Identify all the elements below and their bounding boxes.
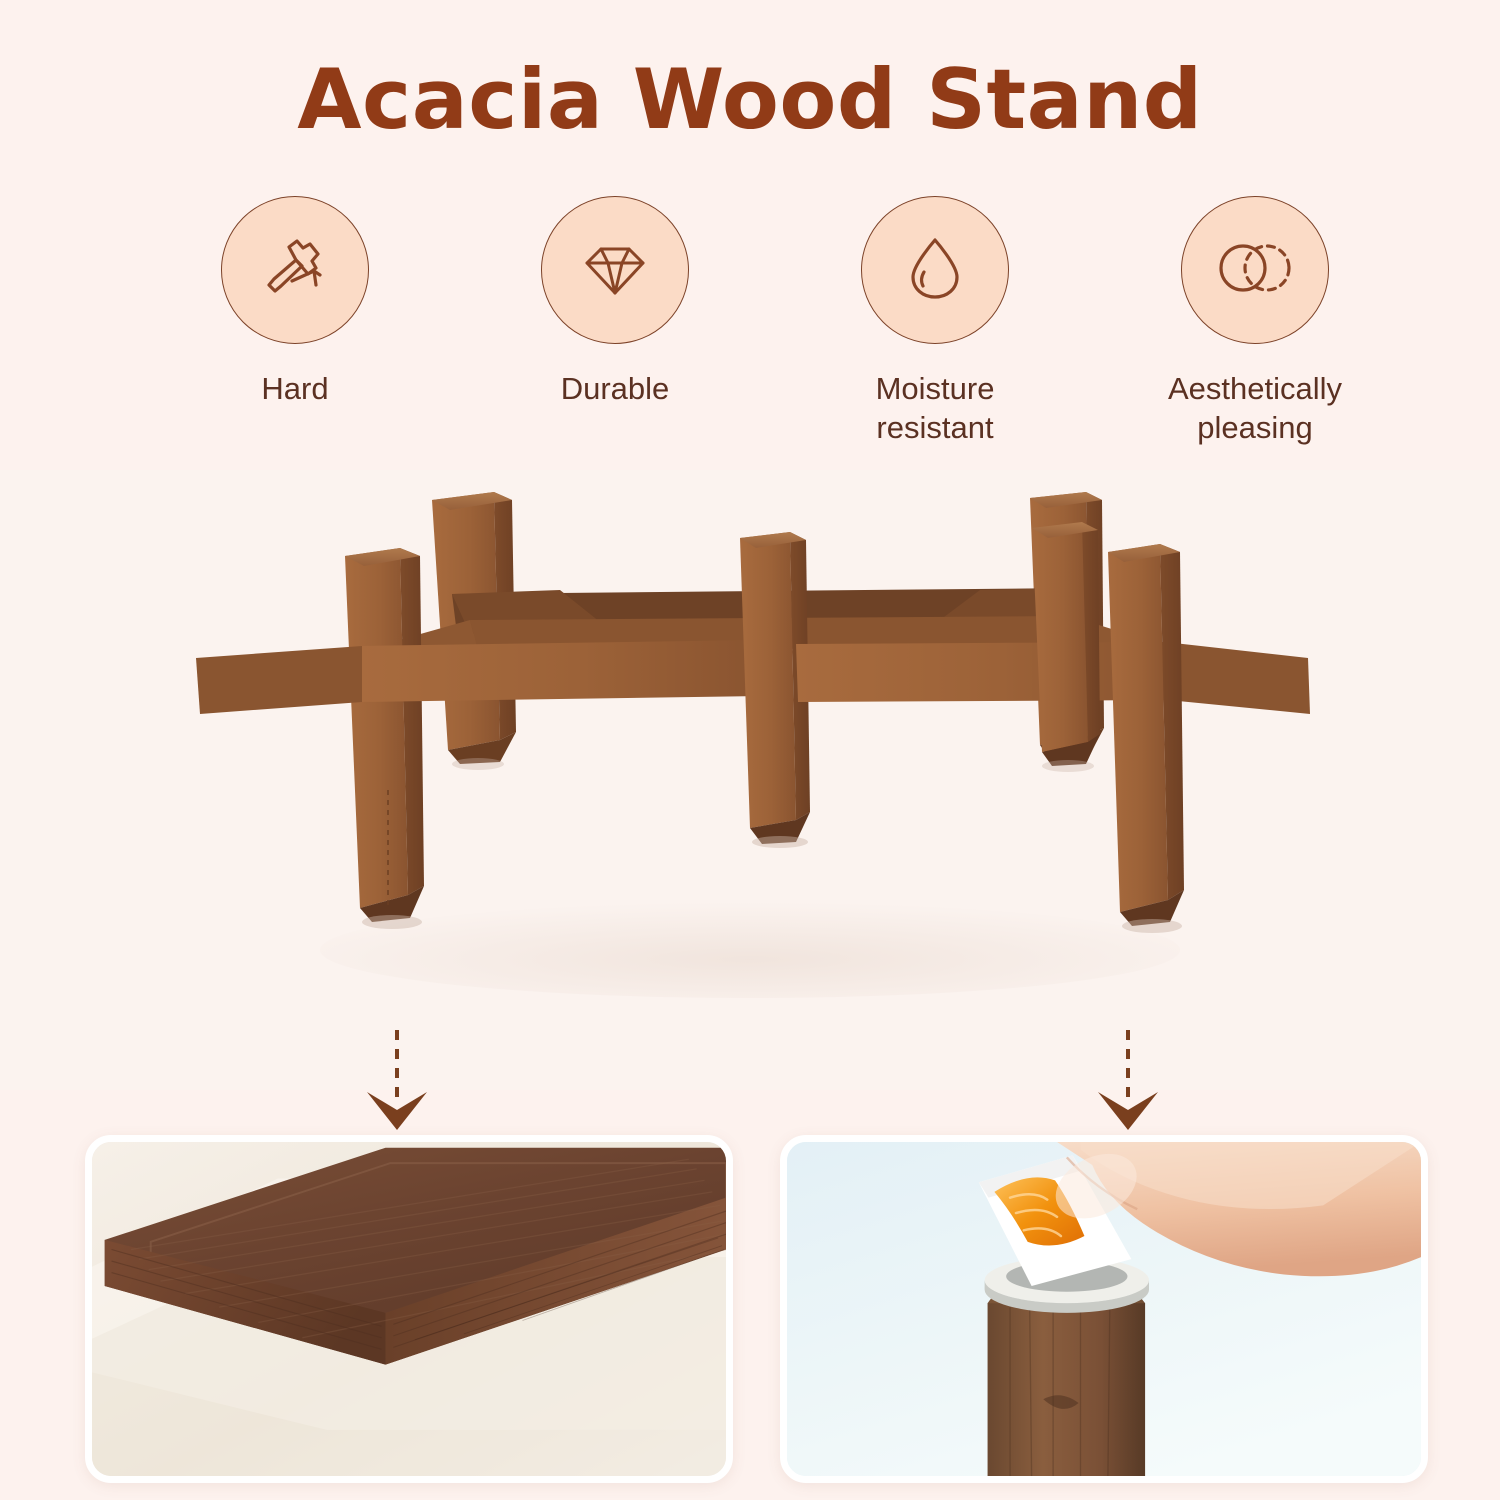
felt-pad-detail-card xyxy=(780,1135,1428,1483)
title-row: Acacia Wood Stand xyxy=(0,56,1500,143)
wood-leg xyxy=(988,1286,1146,1476)
page-title: Acacia Wood Stand xyxy=(297,56,1202,143)
badge-moisture-resistant xyxy=(861,196,1009,344)
feature-label-aesthetically-pleasing: Aesthetically pleasing xyxy=(1168,370,1342,448)
diamond-icon xyxy=(578,231,652,310)
feature-hard: Hard xyxy=(175,196,415,409)
wood-plank-detail-card xyxy=(85,1135,733,1483)
feature-moisture-resistant: Moisture resistant xyxy=(815,196,1055,448)
badge-hard xyxy=(221,196,369,344)
feature-list: Hard Durable Moisture resist xyxy=(175,196,1375,448)
feature-aesthetically-pleasing: Aesthetically pleasing xyxy=(1135,196,1375,448)
feature-label-hard: Hard xyxy=(261,370,328,409)
feature-label-durable: Durable xyxy=(561,370,670,409)
leg-right-inner xyxy=(1032,522,1100,766)
feature-durable: Durable xyxy=(495,196,735,409)
overlapping-circles-icon xyxy=(1214,237,1296,304)
detail-card-group xyxy=(0,1135,1500,1485)
leg-front-right xyxy=(1108,544,1184,926)
wood-stand-illustration xyxy=(0,470,1500,1090)
pad-application-illustration xyxy=(787,1142,1421,1476)
water-drop-icon xyxy=(903,231,967,310)
badge-aesthetically-pleasing xyxy=(1181,196,1329,344)
hammer-icon xyxy=(256,229,334,312)
hero-product-image xyxy=(0,470,1500,1090)
wood-plank-illustration xyxy=(92,1142,726,1476)
badge-durable xyxy=(541,196,689,344)
feature-label-moisture-resistant: Moisture resistant xyxy=(876,370,995,448)
